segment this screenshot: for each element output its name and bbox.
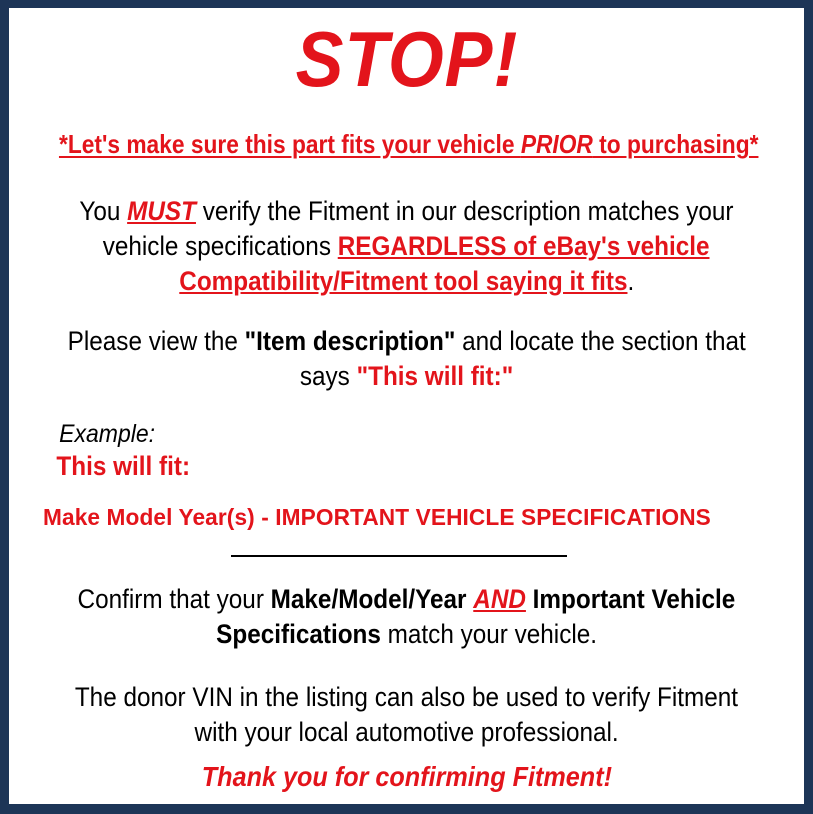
important-vehicle-emphasis: Important Vehicle xyxy=(533,584,736,614)
must-line-1-inner: You MUST verify the Fitment in our descr… xyxy=(79,194,733,229)
confirm-line-1-inner: Confirm that your Make/Model/Year AND Im… xyxy=(78,582,736,617)
confirm-line-1: Confirm that your Make/Model/Year AND Im… xyxy=(9,582,804,617)
confirm-line-2-inner: Specifications match your vehicle. xyxy=(216,617,597,652)
closing-thanks-text: Thank you for confirming Fitment! xyxy=(201,762,611,793)
view-line-2-inner: says "This will fit:" xyxy=(300,359,513,394)
view-line1-seg1: Please view the xyxy=(67,326,244,356)
stop-headline: STOP! xyxy=(9,20,804,98)
and-emphasis: AND xyxy=(473,584,526,614)
paragraph-confirm: Confirm that your Make/Model/Year AND Im… xyxy=(9,582,804,652)
vin-line-1: The donor VIN in the listing can also be… xyxy=(9,680,804,715)
view-line1-seg2: and locate the section that xyxy=(455,326,745,356)
example-spec-line: Make Model Year(s) - IMPORTANT VEHICLE S… xyxy=(43,504,804,531)
view-line-2: says "This will fit:" xyxy=(9,359,804,394)
compatibility-emphasis: Compatibility/Fitment tool saying it fit… xyxy=(179,266,627,296)
must-line2-seg1: vehicle specifications xyxy=(103,231,338,261)
must-line-3: Compatibility/Fitment tool saying it fit… xyxy=(9,264,804,299)
must-line1-seg1: You xyxy=(79,196,127,226)
fitment-notice-card: STOP! *Let's make sure this part fits yo… xyxy=(9,8,804,804)
subtitle-lead: *Let's make sure this part fits your veh… xyxy=(59,129,521,159)
must-line-2: vehicle specifications REGARDLESS of eBa… xyxy=(9,229,804,264)
specifications-emphasis: Specifications xyxy=(216,619,381,649)
must-line-3-inner: Compatibility/Fitment tool saying it fit… xyxy=(179,264,634,299)
must-line1-seg2: verify the Fitment in our description ma… xyxy=(196,196,734,226)
must-line-2-inner: vehicle specifications REGARDLESS of eBa… xyxy=(103,229,710,264)
example-label: Example: xyxy=(55,420,804,449)
stop-headline-text: STOP! xyxy=(295,20,518,98)
paragraph-must-verify: You MUST verify the Fitment in our descr… xyxy=(9,194,804,299)
confirm-line2-seg2: match your vehicle. xyxy=(381,619,597,649)
must-emphasis: MUST xyxy=(127,196,196,226)
example-fit-heading-text: This will fit: xyxy=(56,451,190,482)
view-line-1: Please view the "Item description" and l… xyxy=(9,324,804,359)
view-line2-seg1: says xyxy=(300,361,357,391)
notice-inner: STOP! *Let's make sure this part fits yo… xyxy=(9,8,804,804)
closing-thanks: Thank you for confirming Fitment! xyxy=(9,762,804,793)
regardless-emphasis: REGARDLESS of eBay's vehicle xyxy=(338,231,710,261)
example-fit-heading: This will fit: xyxy=(49,451,804,482)
confirm-line1-seg1: Confirm that your xyxy=(78,584,271,614)
vin-line-2-text: with your local automotive professional. xyxy=(194,715,618,750)
item-description-emphasis: "Item description" xyxy=(244,326,455,356)
subtitle-emphasis-prior: PRIOR xyxy=(521,129,593,159)
must-line3-period: . xyxy=(627,266,634,296)
example-label-text: Example: xyxy=(59,420,155,449)
subtitle-tail: to purchasing* xyxy=(593,129,759,159)
section-divider xyxy=(231,555,567,557)
subtitle-line: *Let's make sure this part fits your veh… xyxy=(9,130,804,160)
confirm-line-2: Specifications match your vehicle. xyxy=(9,617,804,652)
example-spec-text: Make Model Year(s) - IMPORTANT VEHICLE S… xyxy=(43,504,711,531)
must-line-1: You MUST verify the Fitment in our descr… xyxy=(9,194,804,229)
view-line-1-inner: Please view the "Item description" and l… xyxy=(67,324,745,359)
paragraph-please-view: Please view the "Item description" and l… xyxy=(9,324,804,394)
make-model-year-emphasis: Make/Model/Year xyxy=(271,584,467,614)
this-will-fit-emphasis: "This will fit:" xyxy=(357,361,514,391)
vin-line-2: with your local automotive professional. xyxy=(9,715,804,750)
vin-line-1-text: The donor VIN in the listing can also be… xyxy=(75,680,738,715)
example-block: Example: This will fit: Make Model Year(… xyxy=(9,420,804,531)
subtitle-wrapper: *Let's make sure this part fits your veh… xyxy=(59,130,758,160)
paragraph-donor-vin: The donor VIN in the listing can also be… xyxy=(9,680,804,750)
